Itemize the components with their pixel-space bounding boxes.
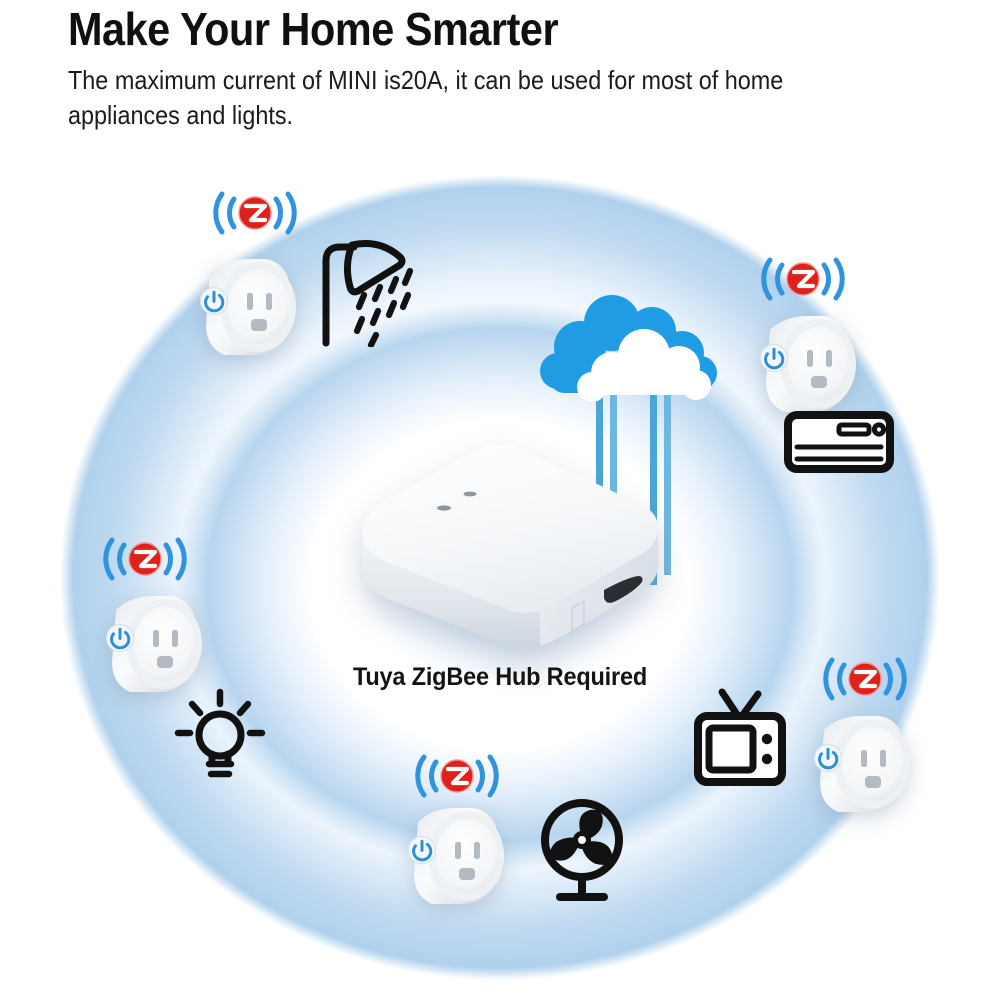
plug-face [842,727,904,801]
hub-caption: Tuya ZigBee Hub Required [312,663,688,692]
power-icon [409,837,436,864]
smart-plug-tv[interactable] [798,700,926,828]
television-icon [692,682,788,792]
air-conditioner-icon [783,410,895,476]
shower-icon [318,235,424,347]
tv-knob [762,754,772,764]
smart-plug-ac[interactable] [744,300,872,428]
tuya-zigbee-hub[interactable] [348,440,668,670]
power-icon [815,745,842,772]
smart-plug-shower[interactable] [184,243,312,371]
infographic-canvas: Make Your Home Smarter The maximum curre… [0,0,1000,1000]
hub-led-indicator [464,492,477,497]
shower-water-drops [357,271,410,345]
hub-led-indicator [437,505,451,510]
tv-screen [709,728,753,770]
bulb-globe [199,714,241,756]
tv-knob [762,734,772,744]
plug-face [228,270,290,344]
light-bulb-icon [172,688,268,784]
plug-face [436,819,498,893]
page-title: Make Your Home Smarter [68,6,860,53]
header-block: Make Your Home Smarter The maximum curre… [68,6,948,134]
electric-fan-icon [534,798,630,902]
page-subtitle: The maximum current of MINI is20A, it ca… [68,63,860,134]
plug-face [788,327,850,401]
plug-face [134,607,196,681]
power-icon [107,625,134,652]
power-icon [761,345,788,372]
zigbee-badge-top-left [196,182,314,244]
bulb-base [209,764,231,774]
power-icon [201,288,228,315]
fan-hub [576,834,589,847]
smart-plug-fan[interactable] [392,792,520,920]
